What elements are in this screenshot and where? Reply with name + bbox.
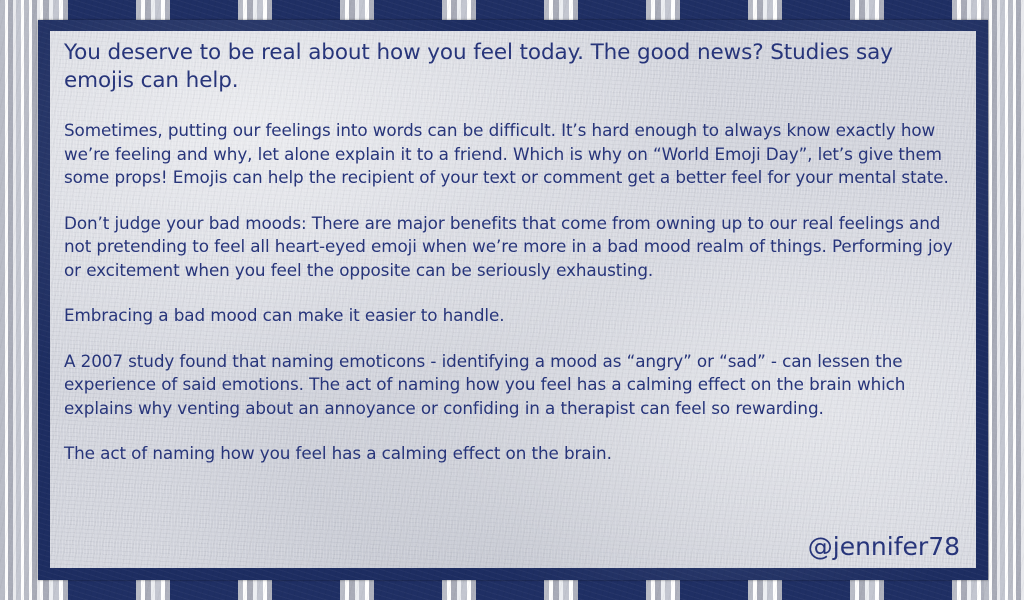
poster-canvas: You deserve to be real about how you fee…	[0, 0, 1024, 600]
spacer	[64, 282, 962, 304]
headline: You deserve to be real about how you fee…	[64, 39, 962, 95]
author-handle: @jennifer78	[808, 532, 960, 562]
article-body: You deserve to be real about how you fee…	[64, 39, 962, 466]
spacer	[64, 95, 962, 119]
striped-border-left	[0, 0, 40, 600]
paragraph-2: Don’t judge your bad moods: There are ma…	[64, 212, 962, 283]
paragraph-1: Sometimes, putting our feelings into wor…	[64, 119, 962, 190]
paragraph-3: Embracing a bad mood can make it easier …	[64, 304, 962, 328]
spacer	[64, 328, 962, 350]
spacer	[64, 420, 962, 442]
paragraph-5: The act of naming how you feel has a cal…	[64, 442, 962, 466]
striped-border-right	[984, 0, 1024, 600]
navy-card-frame: You deserve to be real about how you fee…	[38, 20, 988, 580]
striped-border-top	[0, 0, 1024, 22]
spacer	[64, 190, 962, 212]
paper-card: You deserve to be real about how you fee…	[50, 31, 976, 568]
paragraph-4: A 2007 study found that naming emoticons…	[64, 350, 962, 421]
